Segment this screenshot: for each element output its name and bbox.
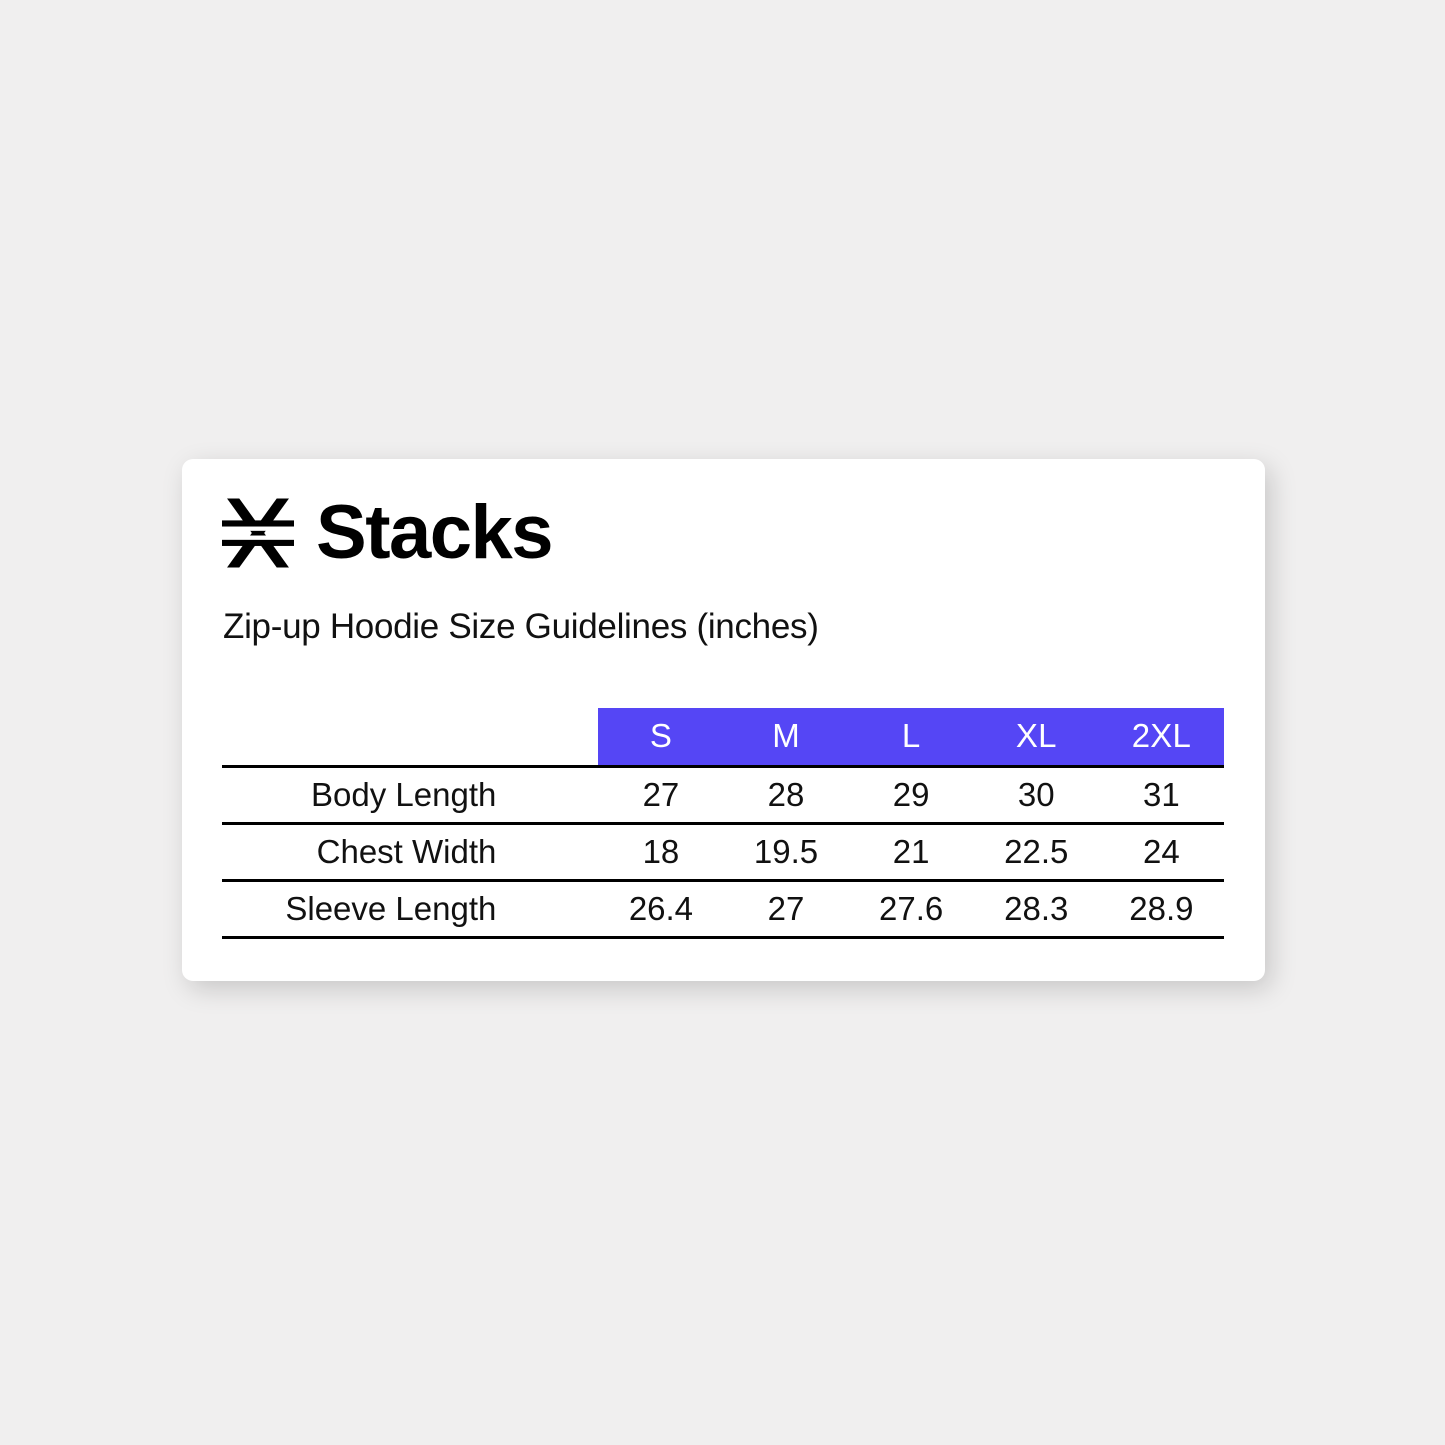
table-row: Body Length 27 28 29 30 31 bbox=[222, 766, 1224, 823]
column-header-xl: XL bbox=[974, 708, 1099, 766]
row-label-sleeve-length: Sleeve Length bbox=[222, 880, 598, 937]
cell-body-length-l: 29 bbox=[849, 766, 974, 823]
cell-body-length-s: 27 bbox=[598, 766, 723, 823]
row-label-body-length: Body Length bbox=[222, 766, 598, 823]
column-header-l: L bbox=[849, 708, 974, 766]
cell-chest-width-s: 18 bbox=[598, 823, 723, 880]
cell-chest-width-xl: 22.5 bbox=[974, 823, 1099, 880]
cell-chest-width-2xl: 24 bbox=[1099, 823, 1224, 880]
cell-sleeve-length-2xl: 28.9 bbox=[1099, 880, 1224, 937]
row-label-chest-width: Chest Width bbox=[222, 823, 598, 880]
column-header-m: M bbox=[723, 708, 848, 766]
cell-body-length-2xl: 31 bbox=[1099, 766, 1224, 823]
table-corner-header bbox=[222, 708, 598, 766]
brand-name: Stacks bbox=[316, 495, 552, 571]
cell-sleeve-length-l: 27.6 bbox=[849, 880, 974, 937]
size-guide-table: S M L XL 2XL Body Length 27 28 29 30 31 bbox=[222, 708, 1224, 939]
column-header-2xl: 2XL bbox=[1099, 708, 1224, 766]
cell-body-length-xl: 30 bbox=[974, 766, 1099, 823]
size-guide-card: Stacks Zip-up Hoodie Size Guidelines (in… bbox=[182, 459, 1265, 981]
brand-lockup: Stacks bbox=[222, 487, 552, 579]
cell-chest-width-l: 21 bbox=[849, 823, 974, 880]
cell-chest-width-m: 19.5 bbox=[723, 823, 848, 880]
size-table-container: S M L XL 2XL Body Length 27 28 29 30 31 bbox=[222, 708, 1224, 939]
cell-body-length-m: 28 bbox=[723, 766, 848, 823]
table-body: Body Length 27 28 29 30 31 Chest Width 1… bbox=[222, 766, 1224, 937]
table-header: S M L XL 2XL bbox=[222, 708, 1224, 766]
cell-sleeve-length-m: 27 bbox=[723, 880, 848, 937]
cell-sleeve-length-s: 26.4 bbox=[598, 880, 723, 937]
table-row: Sleeve Length 26.4 27 27.6 28.3 28.9 bbox=[222, 880, 1224, 937]
column-header-s: S bbox=[598, 708, 723, 766]
table-row: Chest Width 18 19.5 21 22.5 24 bbox=[222, 823, 1224, 880]
stacks-logo-icon bbox=[222, 497, 294, 569]
page-title: Zip-up Hoodie Size Guidelines (inches) bbox=[223, 607, 819, 647]
cell-sleeve-length-xl: 28.3 bbox=[974, 880, 1099, 937]
table-header-row: S M L XL 2XL bbox=[222, 708, 1224, 766]
